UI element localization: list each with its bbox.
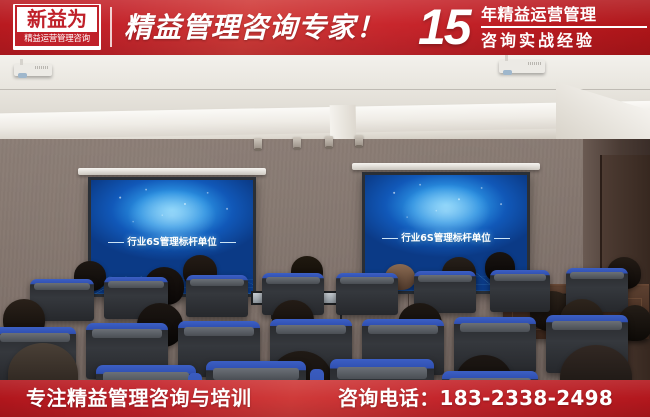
auditorium-seat [186, 275, 248, 317]
ceiling-seam [0, 89, 650, 90]
seat-armrest [310, 369, 324, 380]
conference-hall-photo: 行业6S管理标杆单位 行业6S管理标杆单位 [0, 55, 650, 380]
footer-banner: 专注精益管理咨询与培训 咨询电话：183-2338-2498 [0, 380, 650, 417]
spotlight-icon [254, 138, 262, 149]
spotlight-icon [355, 135, 363, 146]
spotlight-icon [325, 136, 333, 147]
projector-lens [503, 70, 512, 75]
header-divider [110, 7, 112, 47]
screen-title-text-left: 行业6S管理标杆单位 [127, 237, 216, 248]
projector-mount [505, 55, 508, 61]
screen-title-text-right: 行业6S管理标杆单位 [401, 233, 490, 244]
auditorium-seat [442, 371, 538, 380]
footer-tagline: 专注精益管理咨询与培训 [26, 386, 252, 411]
footer-contact: 咨询电话：183-2338-2498 [338, 386, 613, 411]
auditorium-seat [96, 365, 196, 380]
screen-dash-left [108, 242, 124, 243]
screen-dash-left [382, 238, 398, 239]
logo-tagline: 精益运营管理咨询 [15, 32, 99, 46]
projector-lens [18, 73, 27, 78]
years-text-block: 年精益运营管理 咨询实战经验 [481, 3, 647, 52]
auditorium-seat [330, 359, 434, 380]
screen-housing-left [78, 168, 266, 175]
projector-vent [35, 66, 49, 69]
projector-left-icon [14, 64, 52, 76]
screen-dash-right [220, 242, 236, 243]
seat-armrest [188, 373, 202, 380]
promotional-banner-image: 新益为 精益运营管理咨询 精益管理咨询专家！ 15 年精益运营管理 咨询实战经验 [0, 0, 650, 417]
footer-phone-label: 咨询电话： [338, 386, 440, 410]
company-logo: 新益为 精益运营管理咨询 [13, 4, 101, 50]
screen-housing-right [352, 163, 540, 170]
auditorium-seat [206, 361, 306, 380]
screen-title-left: 行业6S管理标杆单位 [91, 234, 253, 248]
spotlight-icon [293, 137, 301, 148]
screen-dash-right [494, 238, 510, 239]
projector-right-icon [499, 60, 545, 73]
years-line-1: 年精益运营管理 [481, 3, 647, 28]
projector-mount [20, 59, 23, 65]
screen-title-right: 行业6S管理标杆单位 [365, 230, 527, 244]
years-line-2: 咨询实战经验 [481, 28, 647, 52]
header-slogan: 精益管理咨询专家！ [124, 6, 386, 49]
years-number: 15 [418, 0, 470, 55]
header-banner: 新益为 精益运营管理咨询 精益管理咨询专家！ 15 年精益运营管理 咨询实战经验 [0, 0, 650, 55]
auditorium-seat [336, 273, 398, 315]
projector-vent [528, 62, 542, 65]
footer-phone-number: 183-2338-2498 [440, 386, 614, 410]
auditorium-seat [490, 270, 550, 312]
logo-wordmark: 新益为 [15, 5, 99, 32]
